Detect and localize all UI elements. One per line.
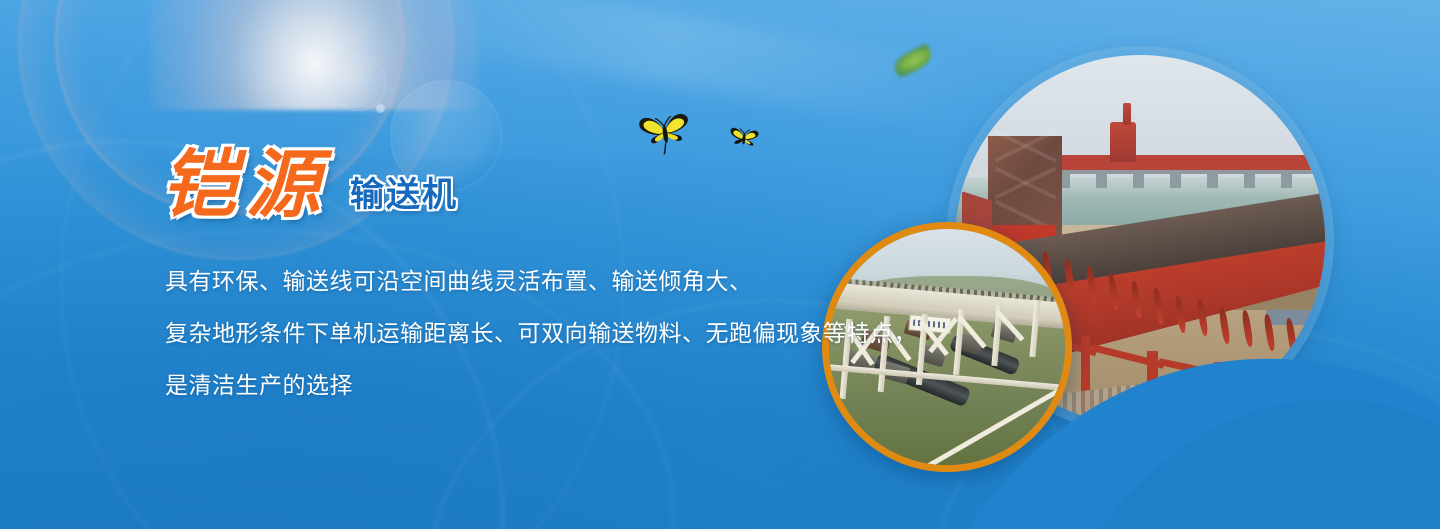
description-line: 是清洁生产的选择: [165, 360, 925, 412]
butterfly-icon: [727, 123, 762, 152]
brand-title: 铠源 输送机: [162, 148, 458, 222]
description-line: 具有环保、输送线可沿空间曲线灵活布置、输送倾角大、: [165, 256, 925, 308]
brand-name: 铠源: [162, 148, 330, 222]
description-block: 具有环保、输送线可沿空间曲线灵活布置、输送倾角大、 复杂地形条件下单机运输距离长…: [165, 256, 925, 412]
description-line: 复杂地形条件下单机运输距离长、可双向输送物料、无跑偏现象等特点，: [165, 308, 925, 360]
promo-banner: 铠源 输送机 具有环保、输送线可沿空间曲线灵活布置、输送倾角大、 复杂地形条件下…: [0, 0, 1440, 529]
sun-flare-icon: [330, 55, 386, 111]
brand-product: 输送机: [350, 178, 458, 222]
sun-flare-icon: [376, 104, 385, 113]
butterfly-icon: [635, 106, 697, 157]
